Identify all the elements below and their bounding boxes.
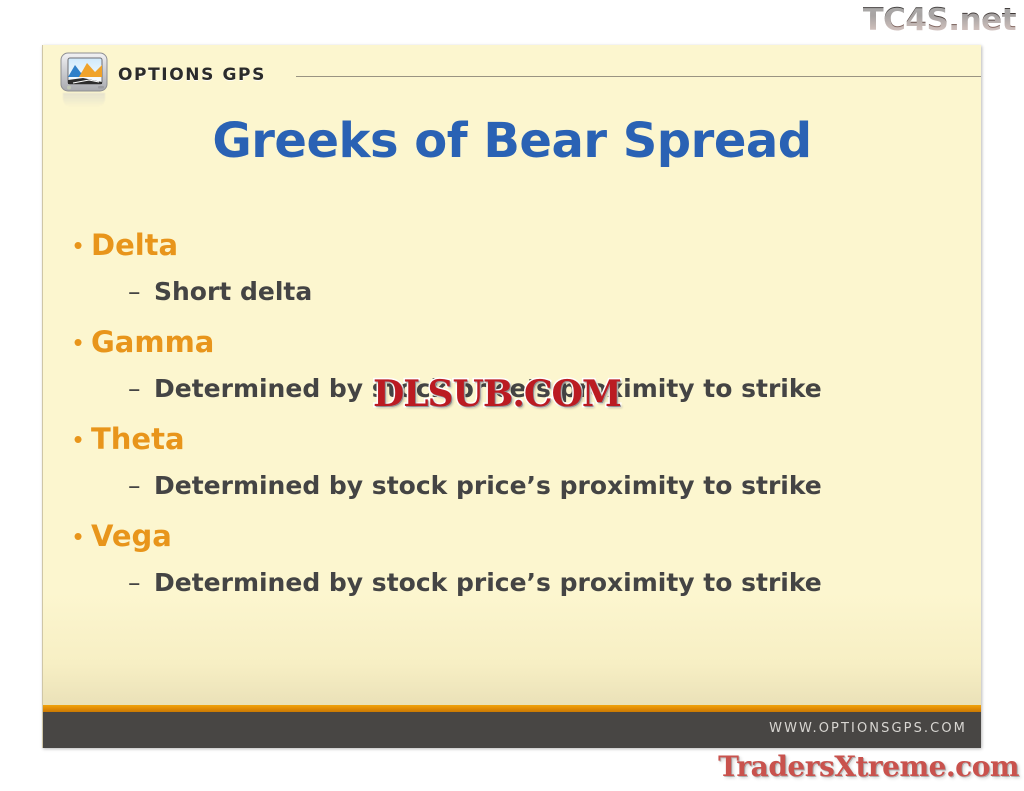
sub-bullet-item: –Determined by stock price’s proximity t… bbox=[65, 562, 965, 610]
footer-url: www.OptionsGPS.com bbox=[769, 721, 967, 736]
tc4s-watermark: TC4S.net bbox=[863, 2, 1016, 38]
gps-device-icon bbox=[59, 51, 109, 95]
bullet-group: •Vega–Determined by stock price’s proxim… bbox=[65, 516, 965, 610]
bullet-marker-icon: • bbox=[65, 225, 91, 265]
bullet-marker-icon: • bbox=[65, 516, 91, 556]
bullet-label: Theta bbox=[91, 419, 185, 459]
bullet-label: Delta bbox=[91, 225, 178, 265]
dlsub-watermark: DLSUB.COM bbox=[373, 373, 621, 415]
bullet-list: •Delta–Short delta•Gamma–Determined by s… bbox=[65, 225, 965, 613]
bullet-group: •Theta–Determined by stock price’s proxi… bbox=[65, 419, 965, 513]
bullet-item-theta: •Theta bbox=[65, 419, 965, 465]
bullet-item-vega: •Vega bbox=[65, 516, 965, 562]
page-title: Greeks of Bear Spread bbox=[43, 113, 981, 169]
bullet-marker-icon: • bbox=[65, 322, 91, 362]
bullet-group: •Delta–Short delta bbox=[65, 225, 965, 319]
presentation-slide: Options GPS Greeks of Bear Spread •Delta… bbox=[42, 45, 981, 748]
header-divider bbox=[296, 76, 981, 77]
sub-bullet-text: Determined by stock price’s proximity to… bbox=[154, 562, 822, 604]
sub-bullet-text: Short delta bbox=[154, 271, 312, 313]
sub-bullet-item: –Short delta bbox=[65, 271, 965, 319]
sub-bullet-text: Determined by stock price’s proximity to… bbox=[154, 465, 822, 507]
sub-bullet-item: –Determined by stock price’s proximity t… bbox=[65, 465, 965, 513]
bullet-label: Gamma bbox=[91, 322, 214, 362]
bullet-item-gamma: •Gamma bbox=[65, 322, 965, 368]
footer-accent-bar bbox=[43, 705, 981, 712]
sub-bullet-dash-icon: – bbox=[128, 368, 154, 410]
tradersxtreme-watermark: TradersXtreme.com bbox=[718, 750, 1019, 783]
sub-bullet-dash-icon: – bbox=[128, 271, 154, 313]
bullet-item-delta: •Delta bbox=[65, 225, 965, 271]
bullet-marker-icon: • bbox=[65, 419, 91, 459]
sub-bullet-dash-icon: – bbox=[128, 562, 154, 604]
gps-icon-reflection bbox=[63, 93, 105, 107]
slide-footer: www.OptionsGPS.com bbox=[43, 712, 981, 748]
slide-header: Options GPS bbox=[43, 45, 981, 107]
bullet-label: Vega bbox=[91, 516, 172, 556]
sub-bullet-dash-icon: – bbox=[128, 465, 154, 507]
brand-name: Options GPS bbox=[118, 65, 266, 85]
